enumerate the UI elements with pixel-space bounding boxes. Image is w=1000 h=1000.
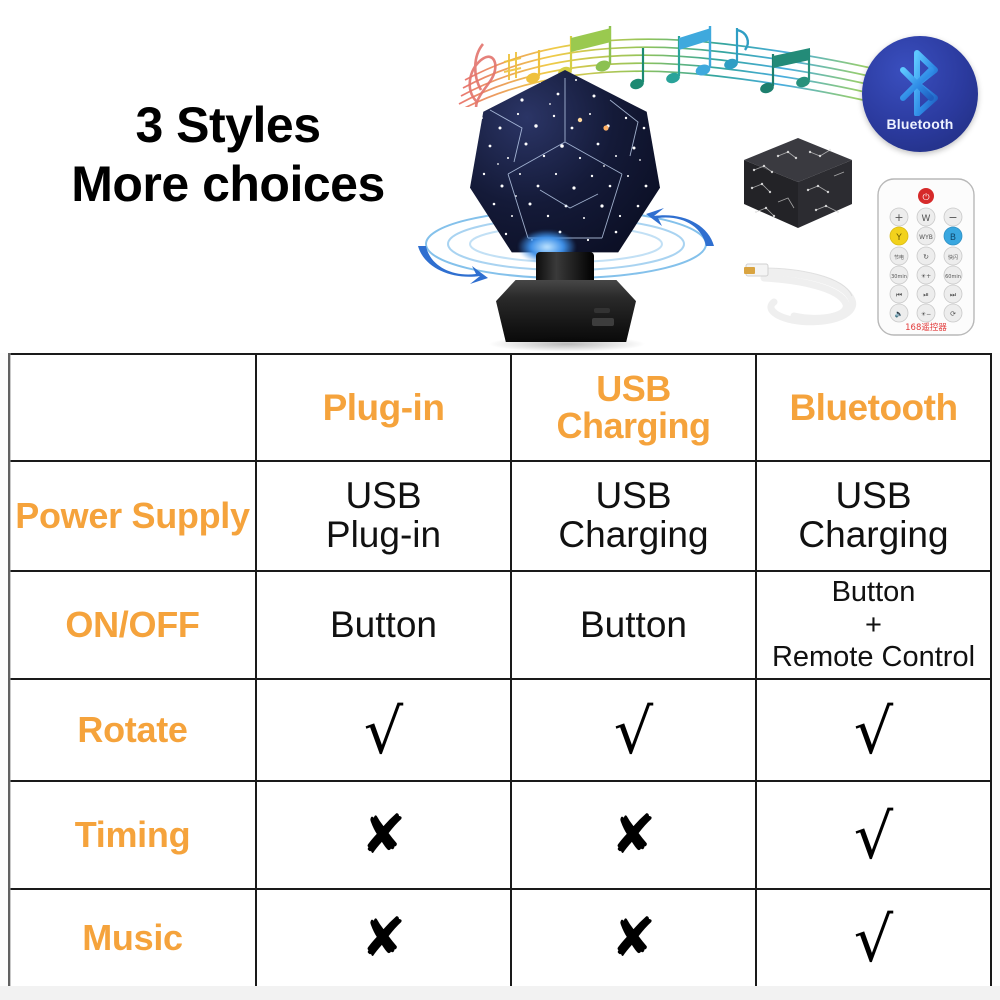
svg-text:+: + bbox=[894, 211, 903, 224]
row-label-power-supply: Power Supply bbox=[9, 461, 256, 571]
column-header-plugin-label: Plug-in bbox=[323, 387, 445, 428]
cell-music-bluetooth: √ bbox=[756, 889, 991, 987]
row-label-music: Music bbox=[9, 889, 256, 987]
table-row: Music ✘ ✘ √ bbox=[9, 889, 991, 987]
bluetooth-badge: Bluetooth bbox=[862, 36, 978, 152]
svg-text:节电: 节电 bbox=[894, 254, 904, 261]
table-row: Rotate √ √ √ bbox=[9, 679, 991, 781]
cell-timing-bluetooth: √ bbox=[756, 781, 991, 889]
hero-section: 3 Styles More choices bbox=[0, 0, 1000, 353]
cell-timing-plugin: ✘ bbox=[256, 781, 511, 889]
svg-text:W: W bbox=[922, 214, 931, 224]
bottom-strip bbox=[0, 986, 1000, 1000]
row-label-rotate: Rotate bbox=[9, 679, 256, 781]
cell-on-off-plugin: Button bbox=[256, 571, 511, 679]
cell-power-supply-usb-charging: USB Charging bbox=[511, 461, 756, 571]
column-header-usb-charging: USB Charging bbox=[511, 354, 756, 461]
check-icon: √ bbox=[854, 909, 894, 971]
check-icon: √ bbox=[364, 701, 404, 763]
projector-button bbox=[594, 308, 610, 313]
cell-music-plugin: ✘ bbox=[256, 889, 511, 987]
svg-text:☀−: ☀− bbox=[921, 311, 931, 318]
comparison-table-wrapper: Plug-in USB Charging Bluetooth bbox=[8, 353, 990, 986]
page-title: 3 Styles More choices bbox=[28, 96, 428, 214]
bluetooth-badge-label: Bluetooth bbox=[862, 116, 978, 132]
svg-text:Y: Y bbox=[895, 233, 902, 243]
table-header-row: Plug-in USB Charging Bluetooth bbox=[9, 354, 991, 461]
column-header-usb-charging-line2: Charging bbox=[557, 405, 711, 446]
headline-line-1: 3 Styles bbox=[28, 96, 428, 155]
cell-power-supply-plugin: USB Plug-in bbox=[256, 461, 511, 571]
svg-text:⏻: ⏻ bbox=[922, 192, 929, 203]
svg-text:60min: 60min bbox=[945, 274, 961, 280]
check-icon: √ bbox=[854, 701, 894, 763]
cross-icon: ✘ bbox=[361, 808, 406, 862]
cross-icon: ✘ bbox=[361, 911, 406, 965]
cross-icon: ✘ bbox=[611, 911, 656, 965]
bluetooth-icon bbox=[894, 50, 946, 116]
row-label-on-off: ON/OFF bbox=[9, 571, 256, 679]
cell-on-off-usb-charging: Button bbox=[511, 571, 756, 679]
projector-usb-port bbox=[592, 318, 614, 326]
usb-cable-image bbox=[740, 246, 870, 336]
svg-text:WYB: WYB bbox=[919, 234, 933, 241]
star-projector-lamp-image bbox=[448, 70, 683, 353]
table-row: Power Supply USB Plug-in USB Charg bbox=[9, 461, 991, 571]
svg-text:⟳: ⟳ bbox=[950, 310, 956, 318]
row-label-timing: Timing bbox=[9, 781, 256, 889]
svg-text:30min: 30min bbox=[891, 274, 907, 280]
product-shadow bbox=[488, 336, 646, 352]
column-header-bluetooth-label: Bluetooth bbox=[789, 387, 957, 428]
comparison-table: Plug-in USB Charging Bluetooth bbox=[8, 353, 992, 988]
headline-line-2: More choices bbox=[28, 155, 428, 214]
cell-on-off-bluetooth: Button + Remote Control bbox=[756, 571, 991, 679]
svg-text:🔈: 🔈 bbox=[895, 310, 904, 318]
cell-rotate-usb-charging: √ bbox=[511, 679, 756, 781]
svg-text:☀+: ☀+ bbox=[921, 273, 931, 280]
table-row: Timing ✘ ✘ √ bbox=[9, 781, 991, 889]
remote-control-image: ⏻ + W − Y WYB B 节电 ↻ 快闪 30min bbox=[872, 176, 980, 338]
svg-text:↻: ↻ bbox=[923, 253, 929, 261]
cell-power-supply-bluetooth: USB Charging bbox=[756, 461, 991, 571]
product-comparison-infographic: 3 Styles More choices bbox=[0, 0, 1000, 1000]
svg-text:⏯: ⏯ bbox=[923, 291, 929, 299]
svg-text:快闪: 快闪 bbox=[948, 254, 958, 261]
column-header-bluetooth: Bluetooth bbox=[756, 354, 991, 461]
cell-rotate-bluetooth: √ bbox=[756, 679, 991, 781]
left-edge-line bbox=[8, 353, 11, 986]
remote-model-label: 168遥控器 bbox=[905, 322, 947, 333]
table-corner-cell bbox=[9, 354, 256, 461]
svg-text:⏭: ⏭ bbox=[950, 291, 957, 299]
check-icon: √ bbox=[614, 701, 654, 763]
cross-icon: ✘ bbox=[611, 808, 656, 862]
cell-timing-usb-charging: ✘ bbox=[511, 781, 756, 889]
gift-box-image bbox=[738, 126, 858, 234]
table-row: ON/OFF Button Button Button + Remote Con… bbox=[9, 571, 991, 679]
svg-text:−: − bbox=[948, 211, 957, 224]
projector-base bbox=[496, 280, 636, 342]
cell-rotate-plugin: √ bbox=[256, 679, 511, 781]
svg-text:B: B bbox=[950, 233, 956, 243]
check-icon: √ bbox=[854, 806, 894, 868]
column-header-usb-charging-line1: USB bbox=[596, 368, 671, 409]
cell-music-usb-charging: ✘ bbox=[511, 889, 756, 987]
svg-text:⏮: ⏮ bbox=[896, 291, 902, 299]
column-header-plugin: Plug-in bbox=[256, 354, 511, 461]
